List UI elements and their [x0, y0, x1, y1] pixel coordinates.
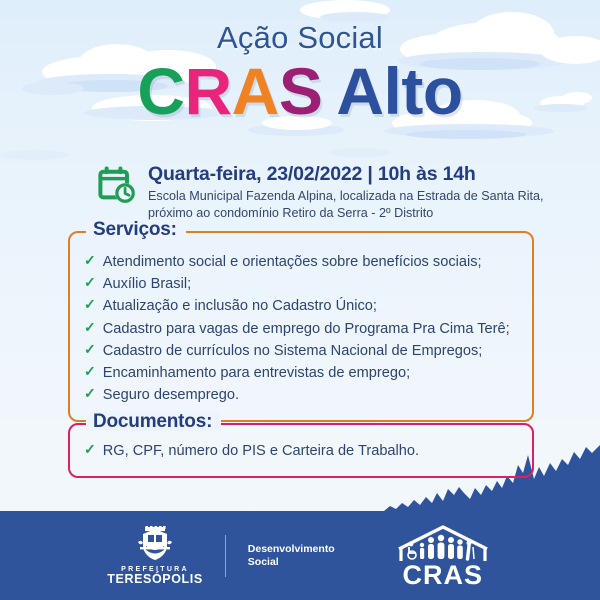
title-letter-r: R	[185, 54, 232, 128]
headline: Ação Social CRASAlto	[0, 22, 600, 124]
title-letter-s: S	[279, 54, 323, 128]
prefeitura-city: TERESÓPOLIS	[107, 573, 203, 587]
documentos-panel: Documentos: ✓RG, CPF, número do PIS e Ca…	[68, 423, 534, 478]
servico-item-label: Auxílio Brasil;	[103, 273, 191, 295]
event-date-line: Quarta-feira, 23/02/2022 | 10h às 14h	[148, 163, 544, 185]
calendar-clock-icon	[98, 165, 136, 205]
poster-canvas: Ação Social CRASAlto Quarta-feira, 23/02…	[0, 0, 600, 600]
servico-item-label: Atualização e inclusão no Cadastro Único…	[103, 295, 377, 317]
department-line-1: Desenvolvimento	[248, 543, 335, 556]
title-letter-c: C	[137, 54, 184, 128]
servico-item: ✓Cadastro de currículos no Sistema Nacio…	[84, 340, 518, 362]
servico-item: ✓Atendimento social e orientações sobre …	[84, 251, 518, 273]
servico-item-label: Cadastro de currículos no Sistema Nacion…	[103, 340, 483, 362]
documento-item-label: RG, CPF, número do PIS e Carteira de Tra…	[103, 440, 419, 462]
servicos-list: ✓Atendimento social e orientações sobre …	[84, 251, 518, 406]
check-icon: ✓	[84, 439, 96, 460]
servico-item: ✓Seguro desemprego.	[84, 384, 518, 406]
documentos-legend: Documentos:	[86, 412, 221, 431]
servico-item-label: Atendimento social e orientações sobre b…	[103, 251, 482, 273]
servico-item: ✓Cadastro para vagas de emprego do Progr…	[84, 318, 518, 340]
servico-item: ✓Auxílio Brasil;	[84, 273, 518, 295]
department-line-2: Social	[248, 556, 335, 569]
check-icon: ✓	[84, 361, 96, 382]
servico-item: ✓Encaminhamento para entrevistas de empr…	[84, 362, 518, 384]
check-icon: ✓	[84, 294, 96, 315]
footer-divider	[225, 535, 226, 577]
documentos-list: ✓RG, CPF, número do PIS e Carteira de Tr…	[84, 440, 518, 462]
footer-logos: PREFEITURA TERESÓPOLIS Desenvolvimento S…	[107, 525, 492, 589]
page-title: CRASAlto	[0, 58, 600, 124]
department-name: Desenvolvimento Social	[248, 543, 335, 570]
check-icon: ✓	[84, 250, 96, 271]
documento-item: ✓RG, CPF, número do PIS e Carteira de Tr…	[84, 440, 518, 462]
servicos-panel: Serviços: ✓Atendimento social e orientaç…	[68, 231, 534, 422]
check-icon: ✓	[84, 383, 96, 404]
title-letter-a: A	[232, 54, 279, 128]
servico-item-label: Seguro desemprego.	[103, 384, 239, 406]
cras-label: CRAS	[402, 563, 483, 589]
prefeitura-logo: PREFEITURA TERESÓPOLIS	[107, 526, 203, 587]
check-icon: ✓	[84, 317, 96, 338]
servicos-legend: Serviços:	[86, 220, 186, 239]
page-eyebrow: Ação Social	[0, 22, 600, 53]
servico-item: ✓Atualização e inclusão no Cadastro Únic…	[84, 295, 518, 317]
servico-item-label: Encaminhamento para entrevistas de empre…	[103, 362, 410, 384]
servico-item-label: Cadastro para vagas de emprego do Progra…	[103, 318, 510, 340]
cras-house-people-icon	[393, 525, 493, 565]
event-address-line-1: Escola Municipal Fazenda Alpina, localiz…	[148, 188, 544, 205]
event-details: Quarta-feira, 23/02/2022 | 10h às 14h Es…	[98, 162, 544, 222]
title-word-alto: Alto	[336, 54, 462, 128]
cras-logo: CRAS	[393, 525, 493, 589]
footer-bar: PREFEITURA TERESÓPOLIS Desenvolvimento S…	[0, 513, 600, 600]
coat-of-arms-icon	[133, 526, 177, 564]
event-address-line-2: próximo ao condomínio Retiro da Serra - …	[148, 205, 544, 222]
check-icon: ✓	[84, 272, 96, 293]
check-icon: ✓	[84, 339, 96, 360]
